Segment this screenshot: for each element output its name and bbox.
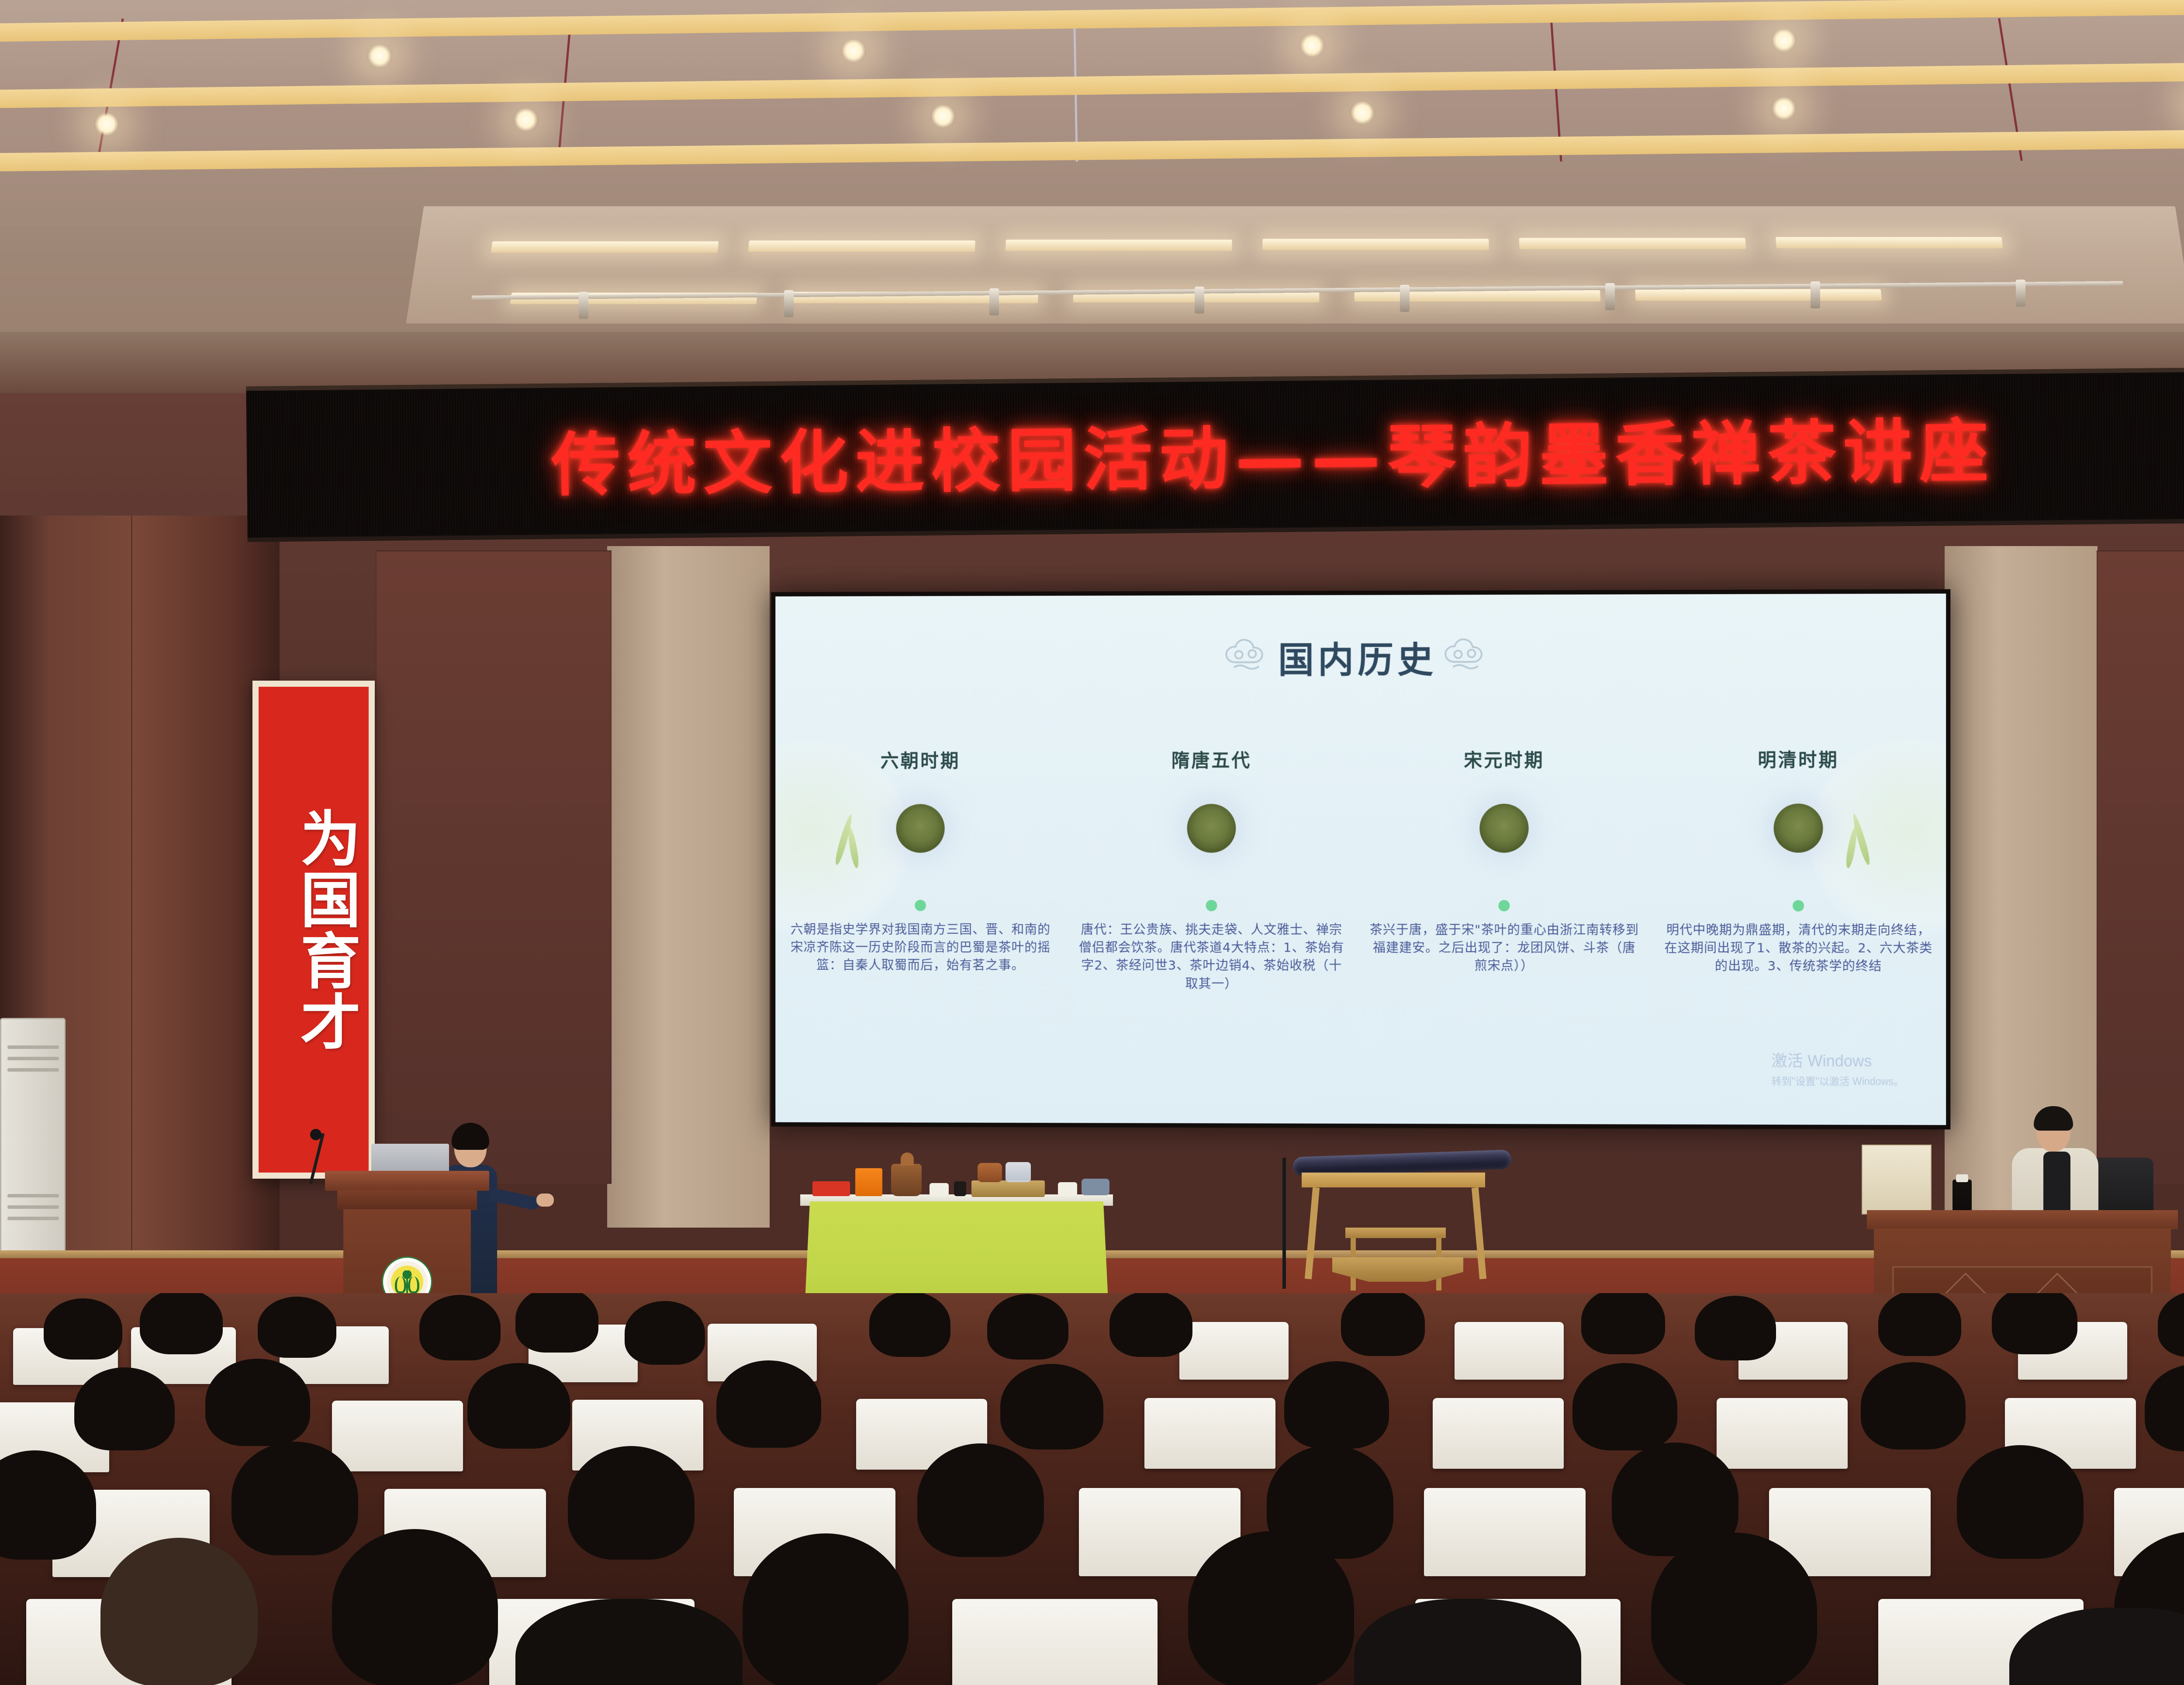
audience-member — [1572, 1363, 1677, 1450]
host-inner-shirt — [2043, 1152, 2070, 1217]
microphone-icon — [310, 1129, 321, 1140]
pillar-left — [607, 546, 770, 1228]
audience-seat — [1433, 1398, 1564, 1469]
tea-leaf-image — [1479, 804, 1528, 853]
podium-top — [325, 1171, 489, 1191]
tea-accessory — [1082, 1179, 1109, 1195]
ceiling-downlight — [1350, 101, 1375, 124]
audience-member — [1284, 1361, 1389, 1449]
stage-soffit — [406, 206, 2184, 324]
green-bullet-dot-icon — [915, 900, 926, 911]
audience-member — [258, 1297, 336, 1358]
period-heading: 宋元时期 — [1358, 745, 1651, 772]
slide-column: 六朝时期 六朝是指史学界对我国南方三国、晋、和南的宋凉齐陈这一历史阶段而言的巴蜀… — [775, 746, 1066, 993]
audience-seat — [1455, 1322, 1564, 1380]
slide-column: 隋唐五代 唐代：王公贵族、挑夫走袋、人文雅士、禅宗僧侣都会饮茶。唐代茶道4大特点… — [1066, 746, 1358, 993]
track-light — [1811, 281, 1820, 308]
audience-member — [625, 1301, 705, 1365]
guqin-bench-top — [1345, 1228, 1446, 1238]
led-banner-screen: 传统文化进校园活动——琴韵墨香禅茶讲座 — [246, 373, 2184, 536]
guqin-microphone-stand — [1282, 1158, 1286, 1289]
cloud-ornament-icon — [1442, 636, 1493, 678]
audience-member — [467, 1363, 570, 1449]
track-light — [579, 292, 588, 319]
watermark-line-1: 激活 Windows — [1772, 1048, 1904, 1072]
ceiling-downlight — [94, 113, 119, 135]
tea-leaf-image — [1774, 803, 1823, 852]
audience-member — [74, 1367, 175, 1450]
watermark-line-2: 转到"设置"以激活 Windows。 — [1772, 1073, 1904, 1088]
track-light — [1605, 283, 1615, 310]
audience-member — [2009, 1608, 2184, 1685]
audience-member — [515, 1293, 598, 1353]
red-tea-box — [812, 1181, 850, 1196]
slide-column: 明清时期 明代中晚期为鼎盛期，清代的末期走向终结，在这期间出现了1、散茶的兴起。… — [1651, 745, 1946, 994]
audience-member — [743, 1533, 909, 1685]
track-light — [1195, 287, 1204, 314]
ceiling-downlight — [1771, 29, 1797, 52]
clay-tea-jar — [891, 1164, 922, 1196]
period-heading: 隋唐五代 — [1066, 746, 1358, 773]
audience-member — [1341, 1293, 1425, 1356]
ceiling-downlight — [841, 39, 866, 62]
green-bullet-dot-icon — [1793, 900, 1804, 911]
audience-seat — [1144, 1398, 1275, 1469]
guqin-stand-leg — [1305, 1187, 1320, 1280]
audience-member — [1861, 1362, 1966, 1450]
presentation-slide: 国内历史 六朝时期 六朝是指史学界对我国南方三国、晋、和南的宋凉齐陈这一历史阶段… — [775, 594, 1946, 1125]
track-light — [2016, 280, 2025, 307]
audience-member — [140, 1293, 223, 1354]
ceiling-downlight — [1299, 34, 1325, 57]
auditorium-photo: 传统文化进校园活动——琴韵墨香禅茶讲座 — [0, 0, 2184, 1685]
audience-member — [2145, 1364, 2184, 1451]
audience-member — [1000, 1364, 1103, 1450]
book-display-stand — [1862, 1145, 1932, 1214]
ceiling-downlight — [1771, 97, 1797, 120]
audience-member — [1354, 1599, 1581, 1685]
glass-pitcher — [1006, 1162, 1031, 1182]
audience-member — [2158, 1293, 2184, 1357]
projection-screen: 国内历史 六朝时期 六朝是指史学界对我国南方三国、晋、和南的宋凉齐陈这一历史阶段… — [771, 589, 1950, 1130]
speaker-hair — [452, 1123, 489, 1150]
audience-seat — [1179, 1322, 1289, 1380]
desk-top — [1867, 1210, 2178, 1229]
jar-lid — [901, 1152, 914, 1166]
audience-member — [869, 1293, 950, 1357]
audience-member — [44, 1298, 122, 1360]
tea-cup — [1058, 1182, 1077, 1196]
slide-title: 国内历史 — [1278, 631, 1437, 683]
teapot — [978, 1163, 1002, 1182]
audience-member — [1651, 1533, 1817, 1685]
wall-panel — [376, 550, 612, 1184]
tea-leaf-image — [896, 804, 945, 853]
audience-member — [419, 1295, 501, 1360]
tea-tray — [971, 1180, 1045, 1197]
audience-member — [1581, 1293, 1665, 1354]
banner-left: 为国育才 — [252, 681, 375, 1179]
audience-member — [987, 1294, 1068, 1360]
period-body-text: 唐代：王公贵族、挑夫走袋、人文雅士、禅宗僧侣都会饮茶。唐代茶道4大特点：1、茶始… — [1066, 921, 1358, 993]
audience-member — [568, 1446, 695, 1560]
wall-panel — [2097, 550, 2184, 1184]
audience-area — [0, 1293, 2184, 1685]
audience-member — [1109, 1293, 1192, 1357]
ceiling-downlight — [513, 108, 539, 131]
ceiling-downlight — [367, 45, 392, 67]
tea-scoop — [954, 1181, 966, 1196]
podium-neck — [337, 1190, 477, 1210]
laptop — [371, 1144, 449, 1173]
period-heading: 六朝时期 — [775, 746, 1066, 773]
track-light — [784, 290, 794, 317]
audience-member — [1957, 1445, 2084, 1559]
track-light — [1400, 285, 1410, 312]
speaker-hand — [536, 1194, 554, 1207]
period-body-text: 明代中晚期为鼎盛期，清代的末期走向终结，在这期间出现了1、散茶的兴起。2、六大茶… — [1651, 921, 1946, 976]
tea-cup — [930, 1183, 949, 1196]
audience-member — [332, 1529, 498, 1685]
audience-member — [1992, 1293, 2077, 1354]
audience-seat — [952, 1599, 1158, 1685]
ceiling-downlight — [930, 105, 956, 128]
orange-tea-canister — [855, 1168, 882, 1196]
period-heading: 明清时期 — [1651, 745, 1946, 772]
banner-left-text: 为国育才 — [259, 721, 369, 1138]
slide-period-columns: 六朝时期 六朝是指史学界对我国南方三国、晋、和南的宋凉齐陈这一历史阶段而言的巴蜀… — [775, 745, 1946, 994]
audience-member — [0, 1450, 96, 1560]
green-bullet-dot-icon — [1206, 900, 1217, 911]
audience-member — [716, 1360, 821, 1448]
ink-bottle-cap — [1956, 1174, 1968, 1182]
audience-seat — [1424, 1488, 1586, 1576]
led-banner: 传统文化进校园活动——琴韵墨香禅茶讲座 — [246, 367, 2184, 542]
tea-leaf-image — [1187, 804, 1236, 853]
cloud-ornament-icon — [1222, 636, 1274, 678]
period-body-text: 六朝是指史学界对我国南方三国、晋、和南的宋凉齐陈这一历史阶段而言的巴蜀是茶叶的摇… — [775, 920, 1066, 975]
host-hair — [2034, 1106, 2073, 1131]
audience-member — [1188, 1531, 1354, 1685]
period-body-text: 茶兴于唐，盛于宋"茶叶的重心由浙江南转移到福建建安。之后出现了：龙团风饼、斗茶（… — [1358, 921, 1651, 975]
slide-column: 宋元时期 茶兴于唐，盛于宋"茶叶的重心由浙江南转移到福建建安。之后出现了：龙团风… — [1358, 745, 1651, 993]
audience-member — [1695, 1296, 1776, 1360]
led-banner-text: 传统文化进校园活动——琴韵墨香禅茶讲座 — [246, 392, 2184, 512]
windows-activation-watermark: 激活 Windows 转到"设置"以激活 Windows。 — [1772, 1048, 1904, 1088]
audience-member — [1878, 1293, 1961, 1356]
green-bullet-dot-icon — [1498, 900, 1510, 911]
slide-title-row: 国内历史 — [775, 630, 1946, 684]
guqin-stand-top — [1302, 1173, 1485, 1187]
guqin-stand-leg — [1472, 1187, 1486, 1280]
audience-member — [100, 1538, 258, 1685]
track-light — [989, 288, 999, 315]
audience-member — [515, 1599, 743, 1685]
audience-member — [205, 1359, 310, 1446]
audience-member — [917, 1443, 1044, 1557]
